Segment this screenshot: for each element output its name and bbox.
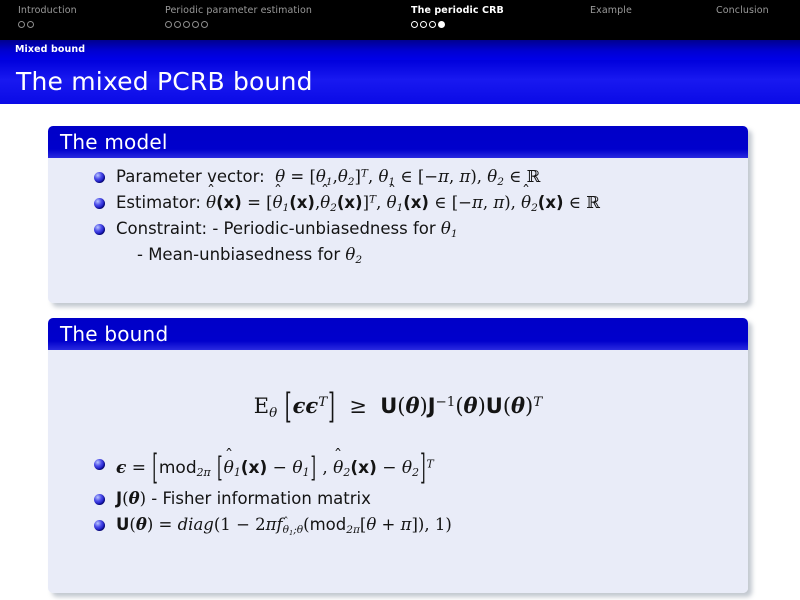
bullet-icon: [94, 224, 105, 235]
nav-dot[interactable]: [174, 21, 181, 28]
fisher-label: - Fisher information matrix: [151, 489, 371, 508]
slide-root: Introduction Periodic parameter estimati…: [0, 0, 800, 600]
nav-dot[interactable]: [192, 21, 199, 28]
nav-section-introduction[interactable]: Introduction: [18, 5, 77, 29]
estimator-label: Estimator:: [116, 193, 201, 212]
bullet-icon: [94, 198, 105, 209]
nav-section-periodic-parameter-estimation[interactable]: Periodic parameter estimation: [165, 5, 312, 29]
nav-section-example[interactable]: Example: [590, 5, 632, 17]
nav-dot[interactable]: [201, 21, 208, 28]
nav-section-dots: [165, 19, 312, 29]
nav-section-dots: [18, 19, 77, 29]
nav-dot[interactable]: [429, 21, 436, 28]
nav-section-dots: [411, 19, 504, 29]
parameter-vector-label: Parameter vector:: [116, 167, 265, 186]
list-item-estimator: Estimator: θ(x) = [θ1(x),θ2(x)]T, θ1(x) …: [62, 192, 734, 214]
list-item-constraint: Constraint: - Periodic-unbiasedness for …: [62, 218, 734, 240]
bullet-icon: [94, 172, 105, 183]
constraint-label: Constraint:: [116, 219, 207, 238]
block-the-bound: The bound Eθ [ϵϵT] ≥ U(θ)J−1(θ)U(θ)T ϵ =…: [48, 318, 748, 593]
list-item-u-matrix: U(θ) = diag(1 − 2πfθ1;θ(mod2π[θ + π]), 1…: [62, 514, 734, 536]
subsection-label: Mixed bound: [15, 44, 85, 55]
main-inequality-equation: Eθ [ϵϵT] ≥ U(θ)J−1(θ)U(θ)T: [62, 391, 734, 423]
block-the-model: The model Parameter vector: θ = [θ1,θ2]T…: [48, 126, 748, 303]
list-item-fisher-information: J(θ) - Fisher information matrix: [62, 488, 734, 510]
nav-section-the-periodic-crb[interactable]: The periodic CRB: [411, 5, 504, 29]
bullet-icon: [94, 494, 105, 505]
nav-section-conclusion[interactable]: Conclusion: [716, 5, 769, 17]
list-item-epsilon-definition: ϵ = [mod2π [θ1(x) − θ1] , θ2(x) − θ2]T: [62, 453, 734, 484]
nav-dot[interactable]: [420, 21, 427, 28]
nav-dot[interactable]: [411, 21, 418, 28]
bullet-icon: [94, 520, 105, 531]
diag-label: diag: [178, 515, 214, 534]
title-bar: The mixed PCRB bound: [0, 60, 800, 104]
nav-dot[interactable]: [165, 21, 172, 28]
slide-title: The mixed PCRB bound: [16, 66, 313, 98]
nav-section-label: Example: [590, 5, 632, 17]
nav-dot[interactable]: [27, 21, 34, 28]
estimator-text: Estimator: θ(x) = [θ1(x),θ2(x)]T, θ1(x) …: [116, 192, 600, 214]
u-matrix-text: U(θ) = diag(1 − 2πfθ1;θ(mod2π[θ + π]), 1…: [116, 514, 452, 536]
block-body-the-model: Parameter vector: θ = [θ1,θ2]T, θ1 ∈ [−π…: [48, 158, 748, 303]
list-item-parameter-vector: Parameter vector: θ = [θ1,θ2]T, θ1 ∈ [−π…: [62, 166, 734, 188]
nav-dot-current[interactable]: [438, 21, 445, 28]
navigation-bar: Introduction Periodic parameter estimati…: [0, 0, 800, 40]
nav-section-label: Introduction: [18, 5, 77, 17]
epsilon-definition-text: ϵ = [mod2π [θ1(x) − θ1] , θ2(x) − θ2]T: [116, 453, 434, 484]
mean-unbiasedness-label: - Mean-unbiasedness for: [137, 245, 340, 264]
nav-section-label: Periodic parameter estimation: [165, 5, 312, 17]
nav-section-label: Conclusion: [716, 5, 769, 17]
periodic-unbiasedness-label: - Periodic-unbiasedness for: [212, 219, 435, 238]
constraint-second-line: - Mean-unbiasedness for θ2: [62, 244, 734, 266]
block-body-the-bound: Eθ [ϵϵT] ≥ U(θ)J−1(θ)U(θ)T ϵ = [mod2π [θ…: [48, 350, 748, 593]
nav-dot[interactable]: [183, 21, 190, 28]
nav-dot[interactable]: [18, 21, 25, 28]
nav-section-label: The periodic CRB: [411, 5, 504, 17]
subsection-bar: Mixed bound: [0, 40, 800, 60]
block-title-the-model: The model: [48, 126, 748, 158]
block-title-the-bound: The bound: [48, 318, 748, 350]
bullet-icon: [94, 459, 105, 470]
constraint-text: Constraint: - Periodic-unbiasedness for …: [116, 218, 458, 240]
